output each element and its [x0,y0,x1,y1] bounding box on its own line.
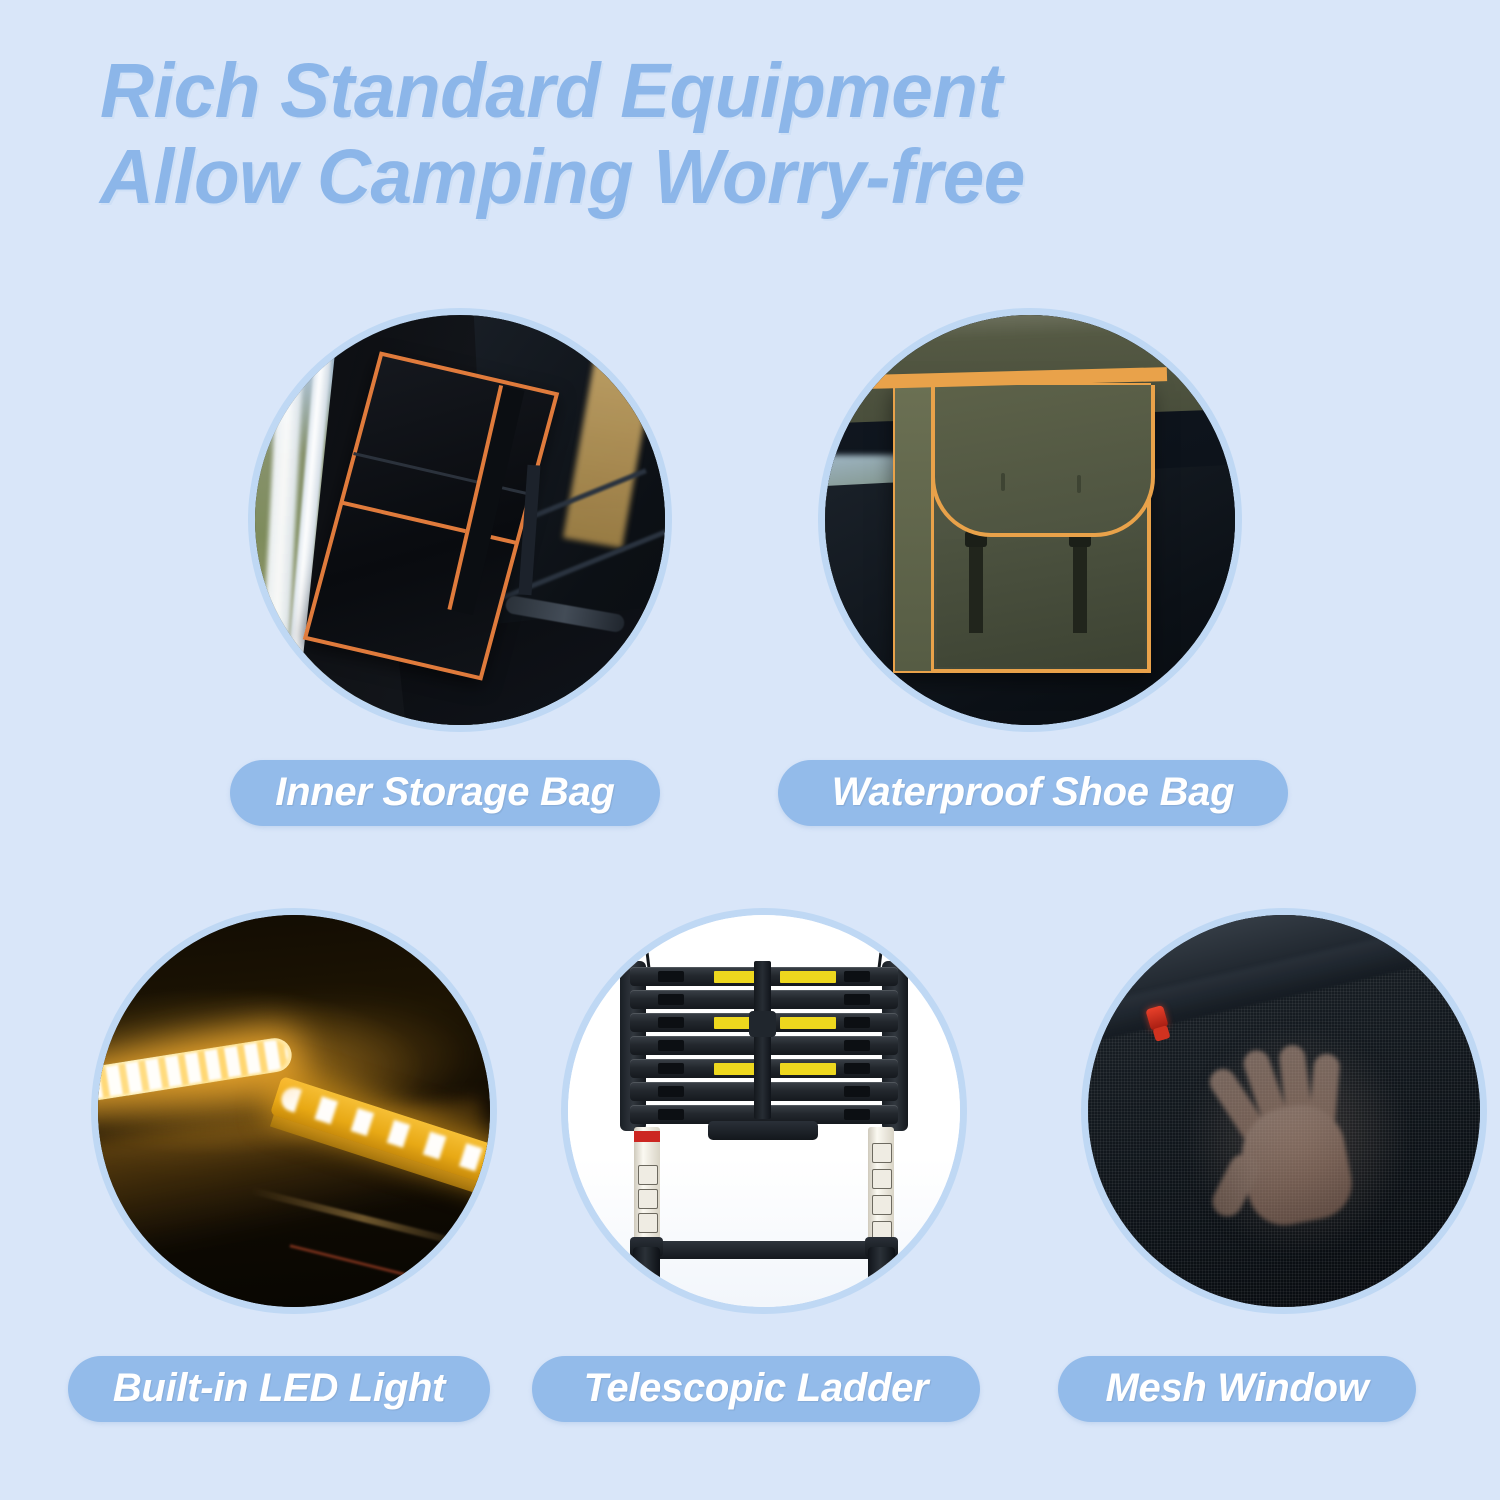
rung-lock-tab [658,1109,684,1120]
feature-label-text: Inner Storage Bag [275,770,614,815]
feature-label-text: Built-in LED Light [113,1366,445,1411]
shoe-bag-gusset [895,385,934,671]
shoe-bag-strap [969,541,983,633]
flap-stitch [1001,473,1005,491]
feature-label-text: Telescopic Ladder [584,1366,929,1411]
instruction-pictogram [638,1189,658,1209]
rung-lock-tab [844,1040,870,1051]
feature-image-waterproof-shoe-bag [825,315,1235,725]
feature-image-built-in-led-light [98,915,490,1307]
headline-line-2: Allow Camping Worry-free [100,134,1380,220]
instruction-pictogram [638,1165,658,1185]
rung-lock-tab [658,994,684,1005]
warning-label [780,1063,836,1075]
rung-lock-tab [844,1063,870,1074]
feature-label-text: Waterproof Shoe Bag [832,770,1234,815]
shoe-bag-strap [1073,541,1087,633]
warning-label [780,971,836,983]
feature-image-telescopic-ladder [568,915,960,1307]
feature-label-text: Mesh Window [1106,1366,1369,1411]
ladder-base-plate [708,1121,818,1140]
instruction-pictogram [872,1169,892,1189]
rung-lock-tab [844,1086,870,1097]
feature-image-mesh-window [1088,915,1480,1307]
ladder-foot-left [633,1247,660,1307]
headline-block: Rich Standard Equipment Allow Camping Wo… [100,48,1420,220]
instruction-pictogram [638,1213,658,1233]
rung-lock-tab [658,971,684,982]
feature-image-inner-storage-bag [255,315,665,725]
shoe-bag-body [893,383,1151,673]
ladder-carry-strap [754,961,771,1119]
rung-lock-tab [844,1017,870,1028]
instruction-pictogram [872,1143,892,1163]
rung-lock-tab [658,1063,684,1074]
flap-stitch [1077,475,1081,493]
rung-lock-tab [658,1086,684,1097]
feature-label-telescopic-ladder[interactable]: Telescopic Ladder [532,1356,980,1422]
rung-lock-tab [844,1109,870,1120]
headline-line-1: Rich Standard Equipment [100,48,1380,134]
ladder-bottom-rung [656,1241,874,1259]
red-indicator-band [634,1131,660,1142]
infographic-page: Rich Standard Equipment Allow Camping Wo… [0,0,1500,1500]
ladder-foot-right [868,1247,895,1307]
rung-lock-tab [658,1017,684,1028]
feature-label-waterproof-shoe-bag[interactable]: Waterproof Shoe Bag [778,760,1288,826]
strap-buckle [749,1011,776,1037]
rung-lock-tab [658,1040,684,1051]
instruction-pictogram [872,1195,892,1215]
shoe-bag-flap [931,385,1155,537]
feature-label-mesh-window[interactable]: Mesh Window [1058,1356,1416,1422]
feature-label-inner-storage-bag[interactable]: Inner Storage Bag [230,760,660,826]
rung-lock-tab [844,994,870,1005]
rung-lock-tab [844,971,870,982]
feature-label-built-in-led-light[interactable]: Built-in LED Light [68,1356,490,1422]
warning-label [780,1017,836,1029]
